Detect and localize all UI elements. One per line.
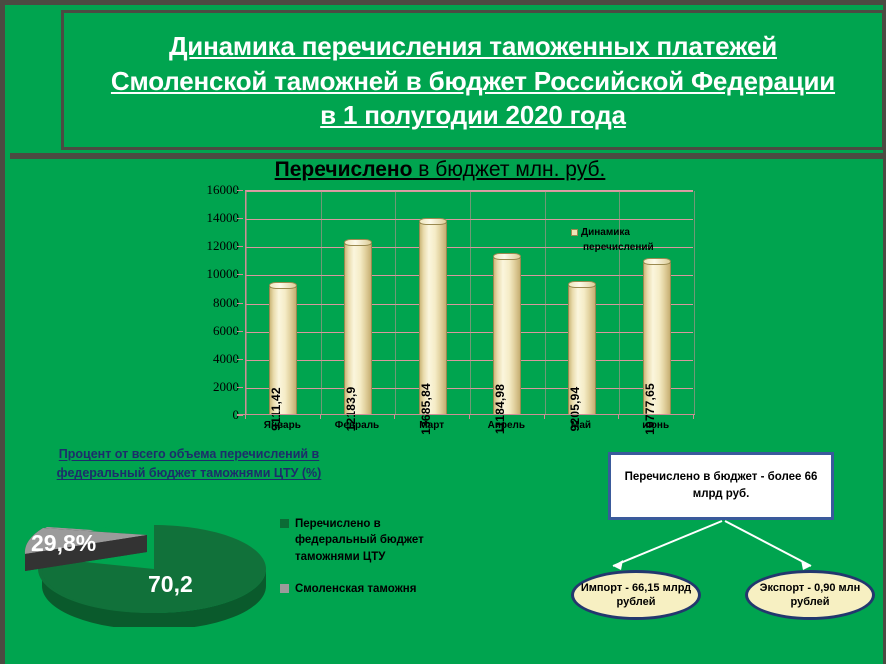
bar-chart-title: Перечислено в бюджет млн. руб. [185, 158, 695, 182]
bar-chart-title-bold: Перечислено [275, 158, 413, 181]
vertical-gridline [395, 191, 396, 415]
bar-top-cap [419, 218, 447, 225]
bar-top-cap [269, 282, 297, 289]
bar-chart: Перечислено в бюджет млн. руб. 020004000… [185, 158, 695, 433]
bar-column[interactable]: 12183,9 [344, 244, 372, 415]
vertical-gridline [246, 191, 247, 415]
title-line-3: в 1 полугодии 2020 года [320, 98, 626, 133]
y-axis-tick-label: 2000 [185, 379, 239, 395]
y-axis-tickmark [237, 359, 243, 360]
x-axis-category-label: Март [419, 420, 444, 431]
pie-legend-swatch-gray-icon [280, 584, 289, 593]
bar-column[interactable]: 13685,84 [419, 223, 447, 415]
bar-top-cap [568, 281, 596, 288]
y-axis-tick-label: 12000 [185, 238, 239, 254]
pie-label-gray: 29,8% [31, 530, 96, 557]
vertical-gridline [619, 191, 620, 415]
x-axis-category-label: Май [571, 420, 591, 431]
pie-chart-title: Процент от всего объема перечислений в ф… [29, 445, 349, 484]
bar-top-cap [344, 239, 372, 246]
title-line-1: Динамика перечисления таможенных платеже… [169, 29, 777, 64]
bar-top-cap [493, 253, 521, 260]
x-axis-category-label: Апрель [488, 420, 525, 431]
pie-legend-label-smolensk: Смоленская таможня [295, 583, 416, 595]
total-callout-box: Перечислено в бюджет - более 66 млрд руб… [608, 452, 834, 520]
y-axis-tickmark [237, 303, 243, 304]
y-axis-tickmark [237, 190, 243, 191]
pie-chart-legend: Перечислено в федеральный бюджет таможня… [280, 516, 450, 597]
pie-chart-graphic [23, 497, 273, 627]
bar-legend-label-1: Динамика [581, 227, 630, 238]
y-axis-tick-label: 16000 [185, 182, 239, 198]
y-axis-tickmark [237, 218, 243, 219]
bar-column[interactable]: 9111,42 [269, 287, 297, 415]
import-callout: Импорт - 66,15 млрд рублей [571, 570, 701, 620]
y-axis-tickmark [237, 415, 243, 416]
bar-column[interactable]: 9205,94 [568, 286, 596, 415]
legend-swatch-icon [571, 229, 578, 236]
pie-title-line-2: федеральный бюджет таможнями ЦТУ (%) [57, 466, 322, 480]
x-axis-tickmark [544, 414, 545, 419]
bar-column[interactable]: 10777,65 [643, 263, 671, 415]
x-axis-category-label: июнь [642, 420, 669, 431]
x-axis-tickmark [469, 414, 470, 419]
pie-legend-item-ctu: Перечислено в федеральный бюджет таможня… [280, 516, 450, 565]
x-axis-category-label: Февраль [335, 420, 379, 431]
slide-title-banner: Динамика перечисления таможенных платеже… [61, 10, 885, 150]
y-axis-tick-label: 8000 [185, 295, 239, 311]
vertical-gridline [470, 191, 471, 415]
vertical-gridline [545, 191, 546, 415]
connector-line-export [725, 521, 811, 566]
x-axis-tickmark [320, 414, 321, 419]
slide-canvas: Динамика перечисления таможенных платеже… [0, 0, 886, 664]
y-axis-tick-label: 10000 [185, 266, 239, 282]
y-axis-tick-label: 4000 [185, 351, 239, 367]
bar-chart-x-axis-line [237, 414, 695, 415]
pie-legend-label-ctu: Перечислено в федеральный бюджет таможня… [295, 518, 424, 563]
x-axis-tickmark [394, 414, 395, 419]
x-axis-category-label: Январь [264, 420, 301, 431]
bar-chart-y-axis: 0200040006000800010000120001400016000 [185, 190, 243, 415]
y-axis-tickmark [237, 331, 243, 332]
bar-column[interactable]: 11184,98 [493, 258, 521, 415]
pie-legend-item-smolensk: Смоленская таможня [280, 581, 450, 597]
pie-title-line-1: Процент от всего объема перечислений в [59, 447, 319, 461]
vertical-gridline [321, 191, 322, 415]
y-axis-tick-label: 14000 [185, 210, 239, 226]
y-axis-tickmark [237, 387, 243, 388]
y-axis-tick-label: 0 [185, 407, 239, 423]
bar-top-cap [643, 258, 671, 265]
export-callout: Экспорт - 0,90 млн рублей [745, 570, 875, 620]
title-line-2: Смоленской таможней в бюджет Российской … [111, 64, 835, 99]
x-axis-tickmark [618, 414, 619, 419]
x-axis-tickmark [693, 414, 694, 419]
pie-legend-swatch-green-icon [280, 519, 289, 528]
bar-chart-plot-area: 9111,4212183,913685,8411184,989205,94107… [245, 190, 693, 415]
pie-label-green: 70,2 [148, 571, 193, 598]
vertical-gridline [694, 191, 695, 415]
bar-chart-plot-wrap: 0200040006000800010000120001400016000 91… [185, 190, 695, 433]
y-axis-tickmark [237, 274, 243, 275]
y-axis-tickmark [237, 246, 243, 247]
y-axis-tick-label: 6000 [185, 323, 239, 339]
pie-chart-svg [23, 497, 273, 627]
bar-legend-label-2: перечислений [571, 241, 687, 256]
bar-chart-title-rest: в бюджет млн. руб. [412, 158, 605, 181]
x-axis-tickmark [245, 414, 246, 419]
bar-chart-legend: Динамика перечислений [571, 226, 687, 255]
connector-line-import [613, 521, 722, 566]
